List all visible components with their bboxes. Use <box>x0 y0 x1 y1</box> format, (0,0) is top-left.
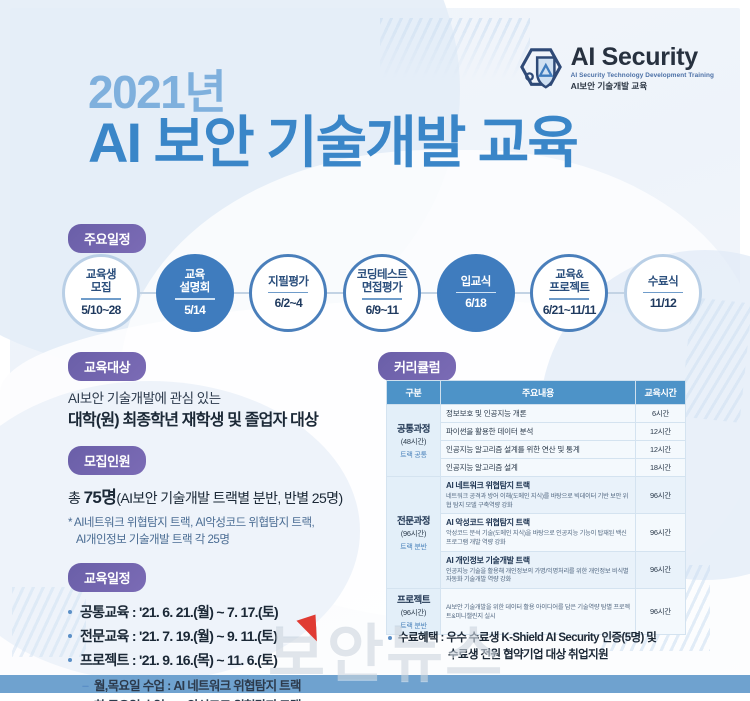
curriculum-content-cell: 인공지능 알고리즘 설계를 위한 연산 및 통계 <box>441 441 636 459</box>
curriculum-content-title: 파이썬을 활용한 데이터 분석 <box>446 426 630 437</box>
curriculum-header-3: 교육시간 <box>636 381 686 405</box>
timeline-connector <box>515 292 531 294</box>
timeline-node-divider <box>643 292 683 294</box>
timeline-node-1[interactable]: 교육생모집5/10~28 <box>62 254 140 332</box>
curriculum-category-hours: (96시간) <box>392 528 435 539</box>
tag-target: 교육대상 <box>68 352 146 381</box>
curriculum-hours-cell: 96시간 <box>636 589 686 635</box>
timeline-node-7[interactable]: 수료식11/12 <box>624 254 702 332</box>
left-content-column: 교육대상 AI보안 기술개발에 관심 있는 대학(원) 최종학년 재학생 및 졸… <box>68 352 388 701</box>
curriculum-hours-cell: 96시간 <box>636 477 686 514</box>
curriculum-content-desc: 네트워크 공격과 방어 이해(도메인 지식)를 바탕으로 빅데이터 기반 보안 … <box>446 493 630 510</box>
timeline-node-date: 6/9~11 <box>366 303 399 317</box>
edu-schedule-list: 공통교육 : '21. 6. 21.(월) ~ 7. 17.(토)전문교육 : … <box>68 600 388 672</box>
timeline-node-divider <box>175 298 215 300</box>
timeline-node-date: 6/18 <box>465 296 486 310</box>
tag-recruit: 모집인원 <box>68 446 146 475</box>
curriculum-content-desc: 악성코드 분석 기술(도메인 지식)을 바탕으로 인공지능 기능이 탑재된 백신… <box>446 530 630 547</box>
curriculum-content-title: AI 악성코드 위협탐지 트랙 <box>446 517 630 528</box>
curriculum-row: 공통과정(48시간)트랙 공통정보보호 및 인공지능 개론6시간 <box>387 405 686 423</box>
recruit-total-number: 75명 <box>84 488 117 507</box>
logo-subtitle-en: AI Security Technology Development Train… <box>571 73 714 79</box>
curriculum-category-hours: (48시간) <box>392 436 435 447</box>
curriculum-content-title: AI 개인정보 기술개발 트랙 <box>446 555 630 566</box>
recruit-total: 총 75명(AI보안 기술개발 트랙별 분반, 반별 25명) <box>68 483 388 508</box>
curriculum-category-name: 프로젝트 <box>392 592 435 606</box>
curriculum-table: 구분주요내용교육시간 공통과정(48시간)트랙 공통정보보호 및 인공지능 개론… <box>386 380 686 635</box>
curriculum-content-title: 인공지능 알고리즘 설계를 위한 연산 및 통계 <box>446 444 630 455</box>
tag-curriculum: 커리큘럼 <box>378 352 456 381</box>
curriculum-category-name: 전문과정 <box>392 513 435 527</box>
curriculum-hours-cell: 96시간 <box>636 514 686 551</box>
edu-schedule-item-3: 프로젝트 : '21. 9. 16.(목) ~ 11. 6.(토) <box>68 648 388 672</box>
curriculum-content-cell: AI 악성코드 위협탐지 트랙악성코드 분석 기술(도메인 지식)을 바탕으로 … <box>441 514 636 551</box>
curriculum-section-tag: 커리큘럼 <box>378 352 456 381</box>
curriculum-category-name: 공통과정 <box>392 421 435 435</box>
timeline-node-date: 5/14 <box>184 303 205 317</box>
timeline-node-label: 입교식 <box>461 276 491 289</box>
edu-schedule-item-1: 공통교육 : '21. 6. 21.(월) ~ 7. 17.(토) <box>68 600 388 624</box>
timeline-node-label: 지필평가 <box>268 276 308 289</box>
recruit-total-prefix: 총 <box>68 490 84 506</box>
timeline-node-divider <box>549 298 589 300</box>
timeline-connector <box>421 292 437 294</box>
curriculum-category-hours: (96시간) <box>392 607 435 618</box>
curriculum-row: 전문과정(96시간)트랙 분반AI 네트워크 위협탐지 트랙네트워크 공격과 방… <box>387 477 686 514</box>
timeline-node-label: 교육&프로젝트 <box>549 269 589 295</box>
recruit-note-line-2: AI개인정보 기술개발 트랙 각 25명 <box>68 532 388 549</box>
benefit-line-2: 수료생 전원 협약기업 대상 취업지원 <box>388 647 708 664</box>
recruit-note: * AI네트워크 위협탐지 트랙, AI악성코드 위협탐지 트랙, AI개인정보… <box>68 515 388 548</box>
timeline-node-label: 수료식 <box>648 276 678 289</box>
curriculum-category-track: 트랙 분반 <box>392 542 435 552</box>
curriculum-content-desc: AI보안 기술개발을 위한 데이터 활용 아이디어를 담은 기술역량 탐별 프로… <box>446 604 630 621</box>
schedule-timeline: 교육생모집5/10~28교육설명회5/14지필평가6/2~4코딩테스트면접평가6… <box>62 253 702 333</box>
title-main: AI 보안 기술개발 교육 <box>88 112 577 174</box>
timeline-node-label: 교육생모집 <box>86 269 116 295</box>
timeline-node-label: 교육설명회 <box>180 269 210 295</box>
timeline-node-divider <box>456 292 496 294</box>
curriculum-content-cell: 인공지능 알고리즘 설계 <box>441 459 636 477</box>
timeline-node-date: 6/2~4 <box>275 296 302 310</box>
timeline-node-label: 코딩테스트면접평가 <box>357 269 407 295</box>
recruit-block: 모집인원 총 75명(AI보안 기술개발 트랙별 분반, 반별 25명) * A… <box>68 446 388 548</box>
timeline-node-divider <box>81 298 121 300</box>
edu-schedule-block: 교육일정 공통교육 : '21. 6. 21.(월) ~ 7. 17.(토)전문… <box>68 563 388 701</box>
edu-schedule-subitem-1: 월,목요일 수업 : AI 네트워크 위협탐지 트랙 <box>82 676 388 696</box>
timeline-connector <box>140 292 156 294</box>
curriculum-content-title: 정보보호 및 인공지능 개론 <box>446 408 630 419</box>
timeline-node-6[interactable]: 교육&프로젝트6/21~11/11 <box>530 254 608 332</box>
curriculum-category-cell: 전문과정(96시간)트랙 분반 <box>387 477 441 589</box>
curriculum-category-cell: 공통과정(48시간)트랙 공통 <box>387 405 441 477</box>
timeline-node-divider <box>268 292 308 294</box>
curriculum-content-cell: AI 개인정보 기술개발 트랙인공지능 기술을 활용해 개인정보의 가명/익명처… <box>441 551 636 588</box>
curriculum-content-cell: 파이썬을 활용한 데이터 분석 <box>441 423 636 441</box>
timeline-connector <box>608 292 624 294</box>
timeline-connector <box>327 292 343 294</box>
curriculum-hours-cell: 12시간 <box>636 423 686 441</box>
timeline-connector <box>234 292 250 294</box>
curriculum-content-title: 인공지능 알고리즘 설계 <box>446 462 630 473</box>
curriculum-table-body: 공통과정(48시간)트랙 공통정보보호 및 인공지능 개론6시간파이썬을 활용한… <box>387 405 686 635</box>
timeline-node-2[interactable]: 교육설명회5/14 <box>156 254 234 332</box>
benefit-line-1: 수료혜택 : 우수 수료생 K-Shield AI Security 인증(5명… <box>388 630 708 647</box>
curriculum-content-cell: AI 네트워크 위협탐지 트랙네트워크 공격과 방어 이해(도메인 지식)를 바… <box>441 477 636 514</box>
curriculum-hours-cell: 96시간 <box>636 551 686 588</box>
edu-schedule-subitem-2: 화,금요일 수업 : AI 악성코드 위협탐지 트랙 <box>82 696 388 701</box>
tag-schedule: 주요일정 <box>68 224 146 253</box>
curriculum-hours-cell: 6시간 <box>636 405 686 423</box>
curriculum-hours-cell: 12시간 <box>636 441 686 459</box>
recruit-total-suffix: (AI보안 기술개발 트랙별 분반, 반별 25명) <box>116 490 342 506</box>
curriculum-row: 프로젝트(96시간)트랙 분반AI보안 기술개발을 위한 데이터 활용 아이디어… <box>387 589 686 635</box>
timeline-node-date: 11/12 <box>650 296 676 310</box>
benefit-note: 수료혜택 : 우수 수료생 K-Shield AI Security 인증(5명… <box>388 630 708 665</box>
target-line-1: AI보안 기술개발에 관심 있는 <box>68 389 388 409</box>
tag-edu-schedule: 교육일정 <box>68 563 146 592</box>
timeline-node-5[interactable]: 입교식6/18 <box>437 254 515 332</box>
curriculum-table-header-row: 구분주요내용교육시간 <box>387 381 686 405</box>
target-block: 교육대상 AI보안 기술개발에 관심 있는 대학(원) 최종학년 재학생 및 졸… <box>68 352 388 432</box>
curriculum-category-track: 트랙 공통 <box>392 450 435 460</box>
edu-schedule-sublist: 월,목요일 수업 : AI 네트워크 위협탐지 트랙화,금요일 수업 : AI … <box>68 676 388 701</box>
curriculum-content-desc: 인공지능 기술을 활용해 개인정보의 가명/익명처리를 위한 개인정보 비식별 … <box>446 568 630 585</box>
poster-title: 2021년 AI 보안 기술개발 교육 <box>88 68 577 174</box>
logo-title: AI Security <box>571 45 714 70</box>
title-year: 2021년 <box>88 68 577 116</box>
poster-canvas: AI Security AI Security Technology Devel… <box>0 0 750 701</box>
curriculum-hours-cell: 18시간 <box>636 459 686 477</box>
timeline-node-4[interactable]: 코딩테스트면접평가6/9~11 <box>343 254 421 332</box>
curriculum-header-1: 구분 <box>387 381 441 405</box>
timeline-node-divider <box>362 298 402 300</box>
target-line-2: 대학(원) 최종학년 재학생 및 졸업자 대상 <box>68 409 388 432</box>
logo-subtitle-ko: AI보안 기술개발 교육 <box>571 82 714 91</box>
curriculum-content-cell: AI보안 기술개발을 위한 데이터 활용 아이디어를 담은 기술역량 탐별 프로… <box>441 589 636 635</box>
curriculum-content-cell: 정보보호 및 인공지능 개론 <box>441 405 636 423</box>
timeline-node-date: 6/21~11/11 <box>543 303 596 317</box>
timeline-node-date: 5/10~28 <box>81 303 121 317</box>
curriculum-category-cell: 프로젝트(96시간)트랙 분반 <box>387 589 441 635</box>
recruit-note-line-1: * AI네트워크 위협탐지 트랙, AI악성코드 위협탐지 트랙, <box>68 517 314 529</box>
edu-schedule-item-2: 전문교육 : '21. 7. 19.(월) ~ 9. 11.(토) <box>68 624 388 648</box>
curriculum-header-2: 주요내용 <box>441 381 636 405</box>
curriculum-content-title: AI 네트워크 위협탐지 트랙 <box>446 480 630 491</box>
timeline-node-3[interactable]: 지필평가6/2~4 <box>249 254 327 332</box>
schedule-section-tag: 주요일정 <box>68 224 146 253</box>
